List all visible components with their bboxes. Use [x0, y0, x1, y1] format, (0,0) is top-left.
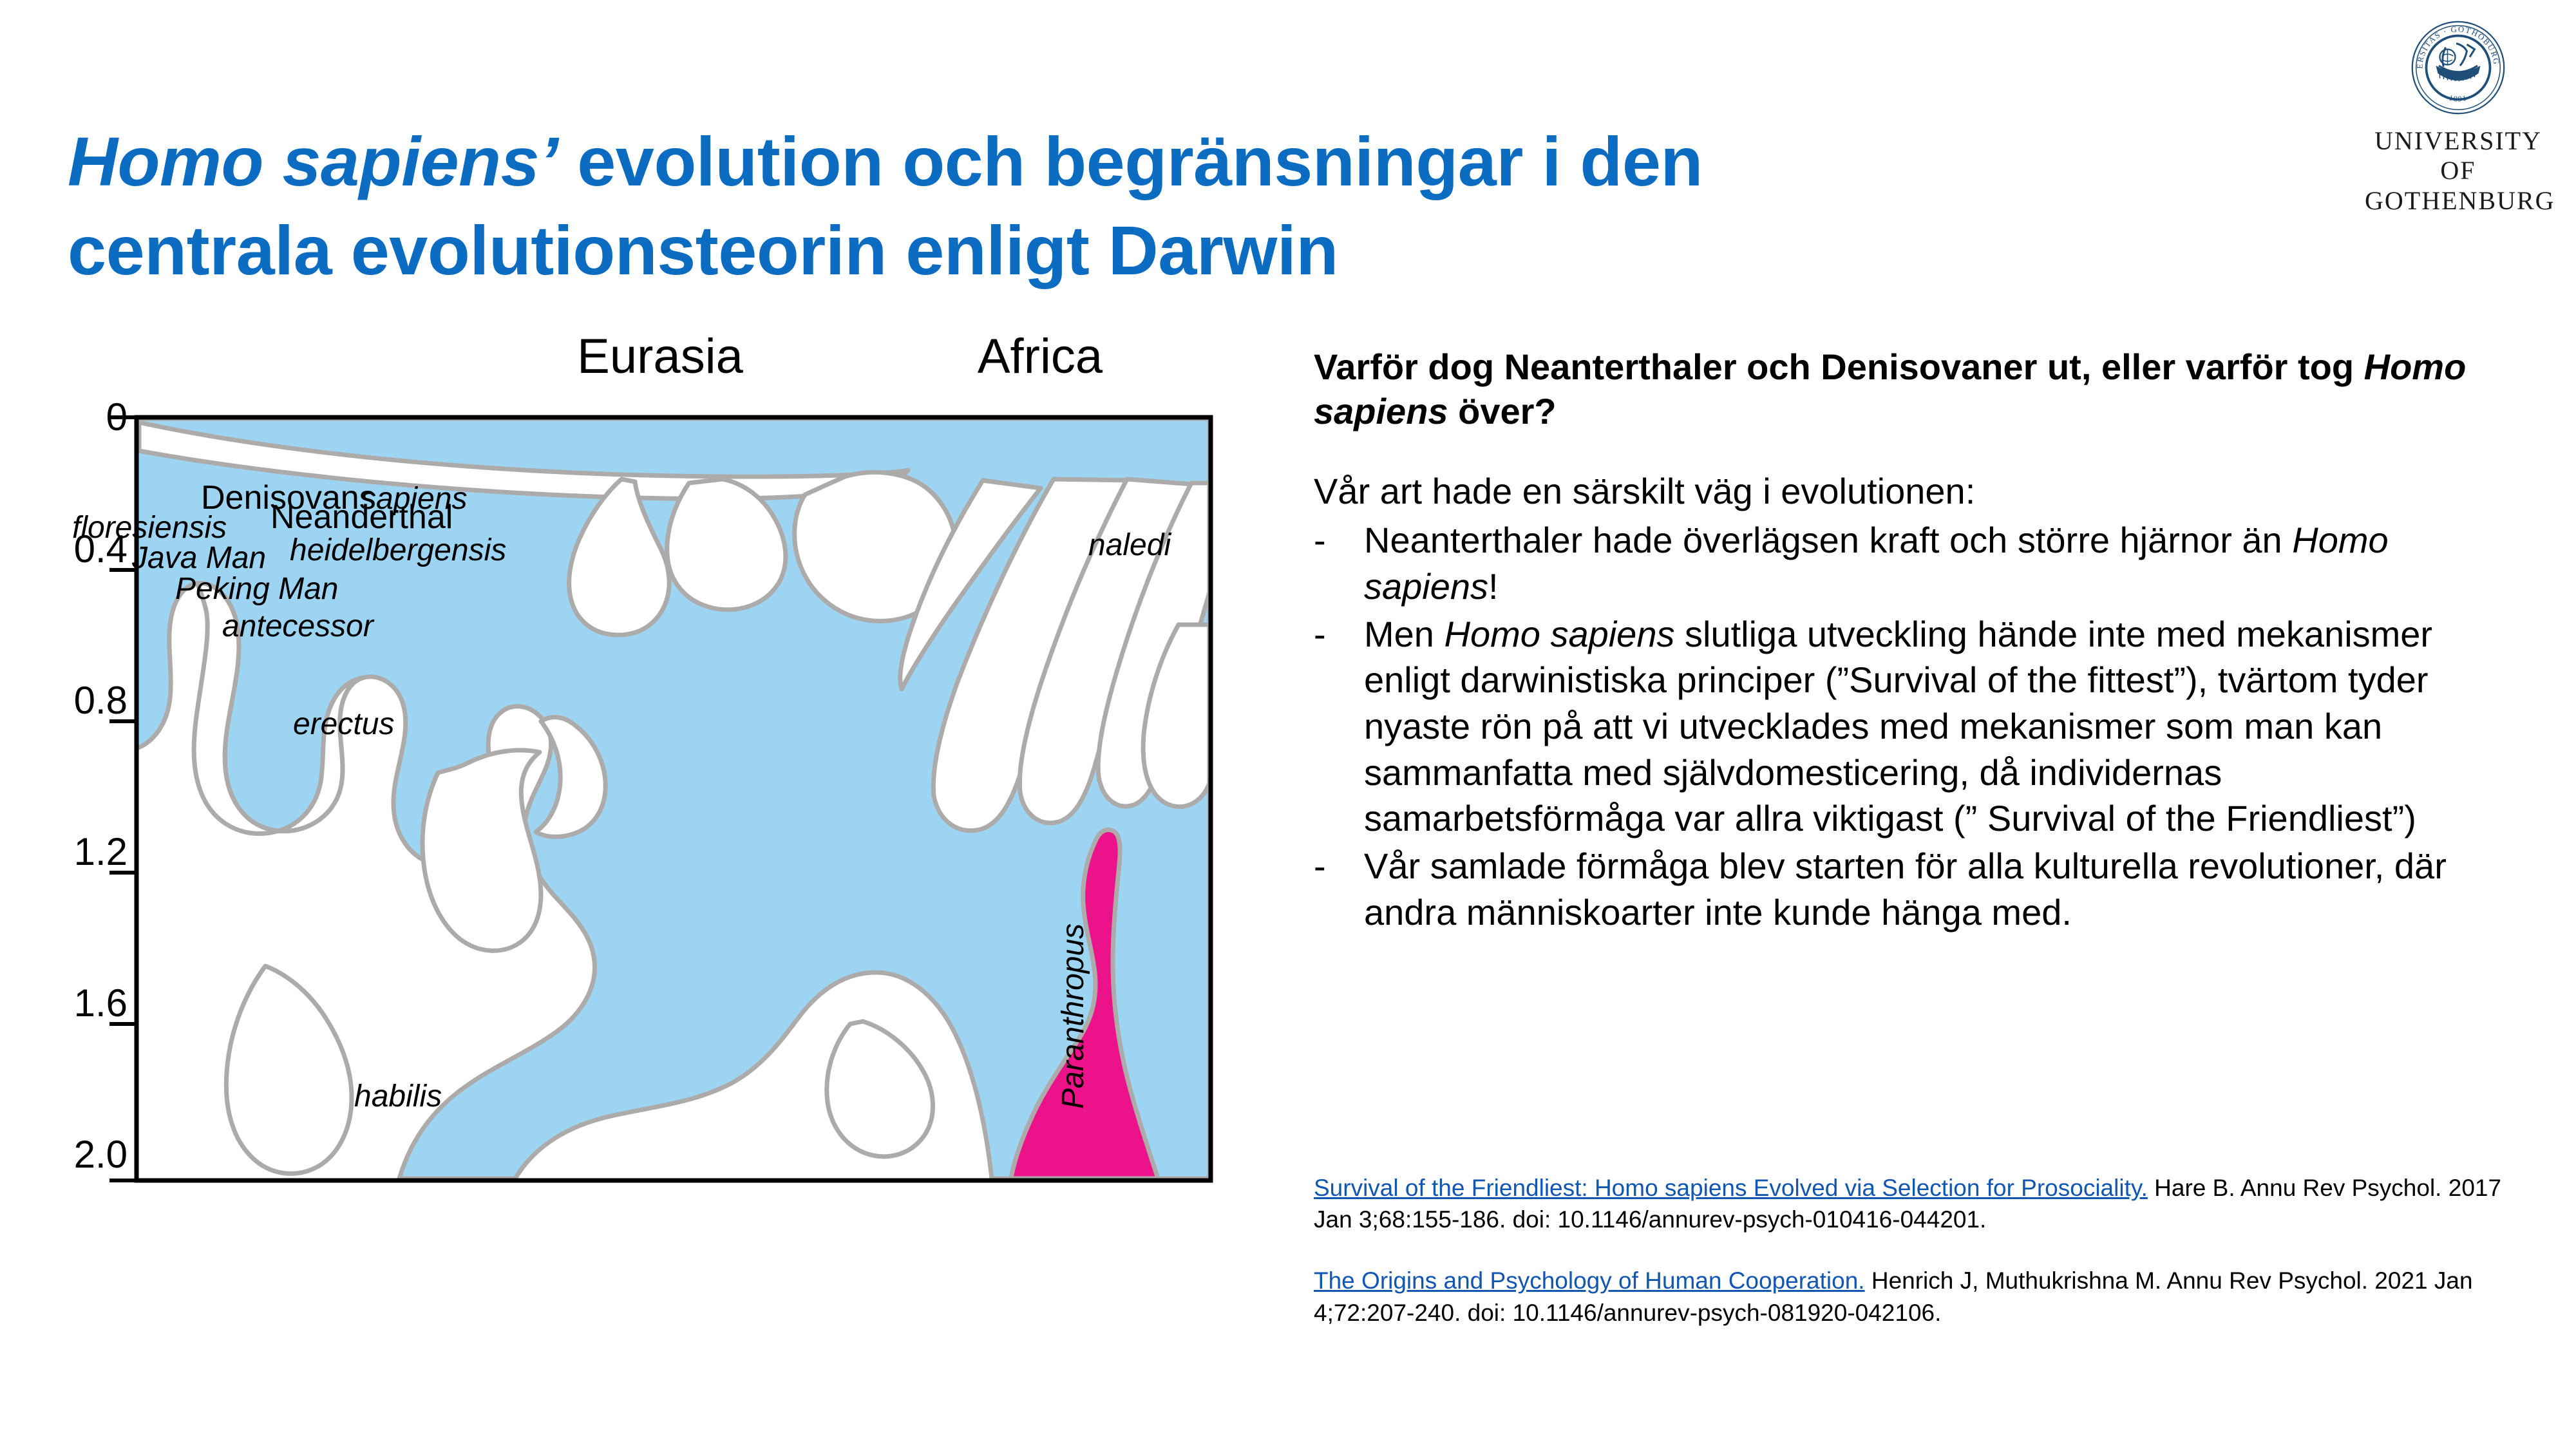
bullet-dash-2: -	[1314, 611, 1352, 658]
university-seal-icon: UNIVERSITAS · GOTHOBURGENSIS · 1891 ·	[2410, 19, 2506, 116]
bullet-item-1: -Neanterthaler hade överlägsen kraft och…	[1314, 517, 2518, 609]
species-label-antecessor: antecessor	[222, 609, 375, 643]
bullet-2-italic: Homo sapiens	[1444, 614, 1675, 654]
species-label-naledi: naledi	[1088, 528, 1171, 562]
body-intro: Vår art hade en särskilt väg i evolution…	[1314, 469, 2518, 513]
species-label-paranthropus: Paranthropus	[1056, 923, 1090, 1109]
species-label-sapiens: sapiens	[361, 482, 467, 516]
body-text-column: Varför dog Neanterthaler och Denisovaner…	[1314, 345, 2518, 936]
page-title: Homo sapiens’ evolution och begränsninga…	[68, 117, 2193, 294]
species-label-erectus: erectus	[293, 707, 394, 741]
bullet-1-part-1: Neanterthaler hade överlägsen kraft och …	[1364, 520, 2292, 560]
species-label-habilis: habilis	[354, 1079, 442, 1113]
reference-item-2: The Origins and Psychology of Human Coop…	[1314, 1265, 2537, 1328]
reference-link-1[interactable]: Survival of the Friendliest: Homo sapien…	[1314, 1175, 2148, 1201]
species-label-peking-man: Peking Man	[175, 572, 338, 606]
evolution-figure: Eurasia Africa 0 0.4 0.8 1.2 1.6 2.0	[39, 322, 1249, 1224]
bullet-1-part-2: !	[1488, 566, 1499, 607]
species-label-heidelbergensis: heidelbergensis	[290, 533, 506, 567]
reference-item-1: Survival of the Friendliest: Homo sapien…	[1314, 1172, 2537, 1235]
title-line2: centrala evolutionsteorin enligt Darwin	[68, 211, 1338, 289]
species-label-java-man: Java Man	[131, 541, 266, 575]
reference-list: Survival of the Friendliest: Homo sapien…	[1314, 1172, 2537, 1358]
bullet-item-3: -Vår samlade förmåga blev starten för al…	[1314, 843, 2518, 935]
university-logo: UNIVERSITAS · GOTHOBURGENSIS · 1891 · UN…	[2365, 19, 2552, 216]
svg-text:UNIVERSITAS · GOTHOBURGENSIS: UNIVERSITAS · GOTHOBURGENSIS	[2410, 19, 2501, 69]
body-heading: Varför dog Neanterthaler och Denisovaner…	[1314, 345, 2518, 434]
bullet-2-part-1: Men	[1364, 614, 1444, 654]
bullet-dash-3: -	[1314, 843, 1352, 889]
title-line1-rest: evolution och begränsningar i den	[558, 122, 1703, 200]
bullet-dash-1: -	[1314, 517, 1352, 563]
wordmark-line-2: GOTHENBURG	[2365, 186, 2552, 216]
university-wordmark: UNIVERSITY OF GOTHENBURG	[2365, 126, 2552, 216]
svg-text:· 1891 ·: · 1891 ·	[2442, 91, 2475, 104]
bullet-item-2: -Men Homo sapiens slutliga utveckling hä…	[1314, 611, 2518, 842]
heading-part-1: Varför dog Neanterthaler och Denisovaner…	[1314, 346, 2364, 387]
title-italic-species: Homo sapiens’	[68, 122, 558, 200]
reference-link-2[interactable]: The Origins and Psychology of Human Coop…	[1314, 1267, 1865, 1294]
phylogeny-plot: floresiensis Java Man Peking Man Denisov…	[39, 322, 1249, 1224]
bullet-3-part-1: Vår samlade förmåga blev starten för all…	[1364, 846, 2447, 933]
heading-part-2: över?	[1448, 391, 1557, 431]
wordmark-line-1: UNIVERSITY OF	[2365, 126, 2552, 186]
bullet-list: -Neanterthaler hade överlägsen kraft och…	[1314, 517, 2518, 935]
